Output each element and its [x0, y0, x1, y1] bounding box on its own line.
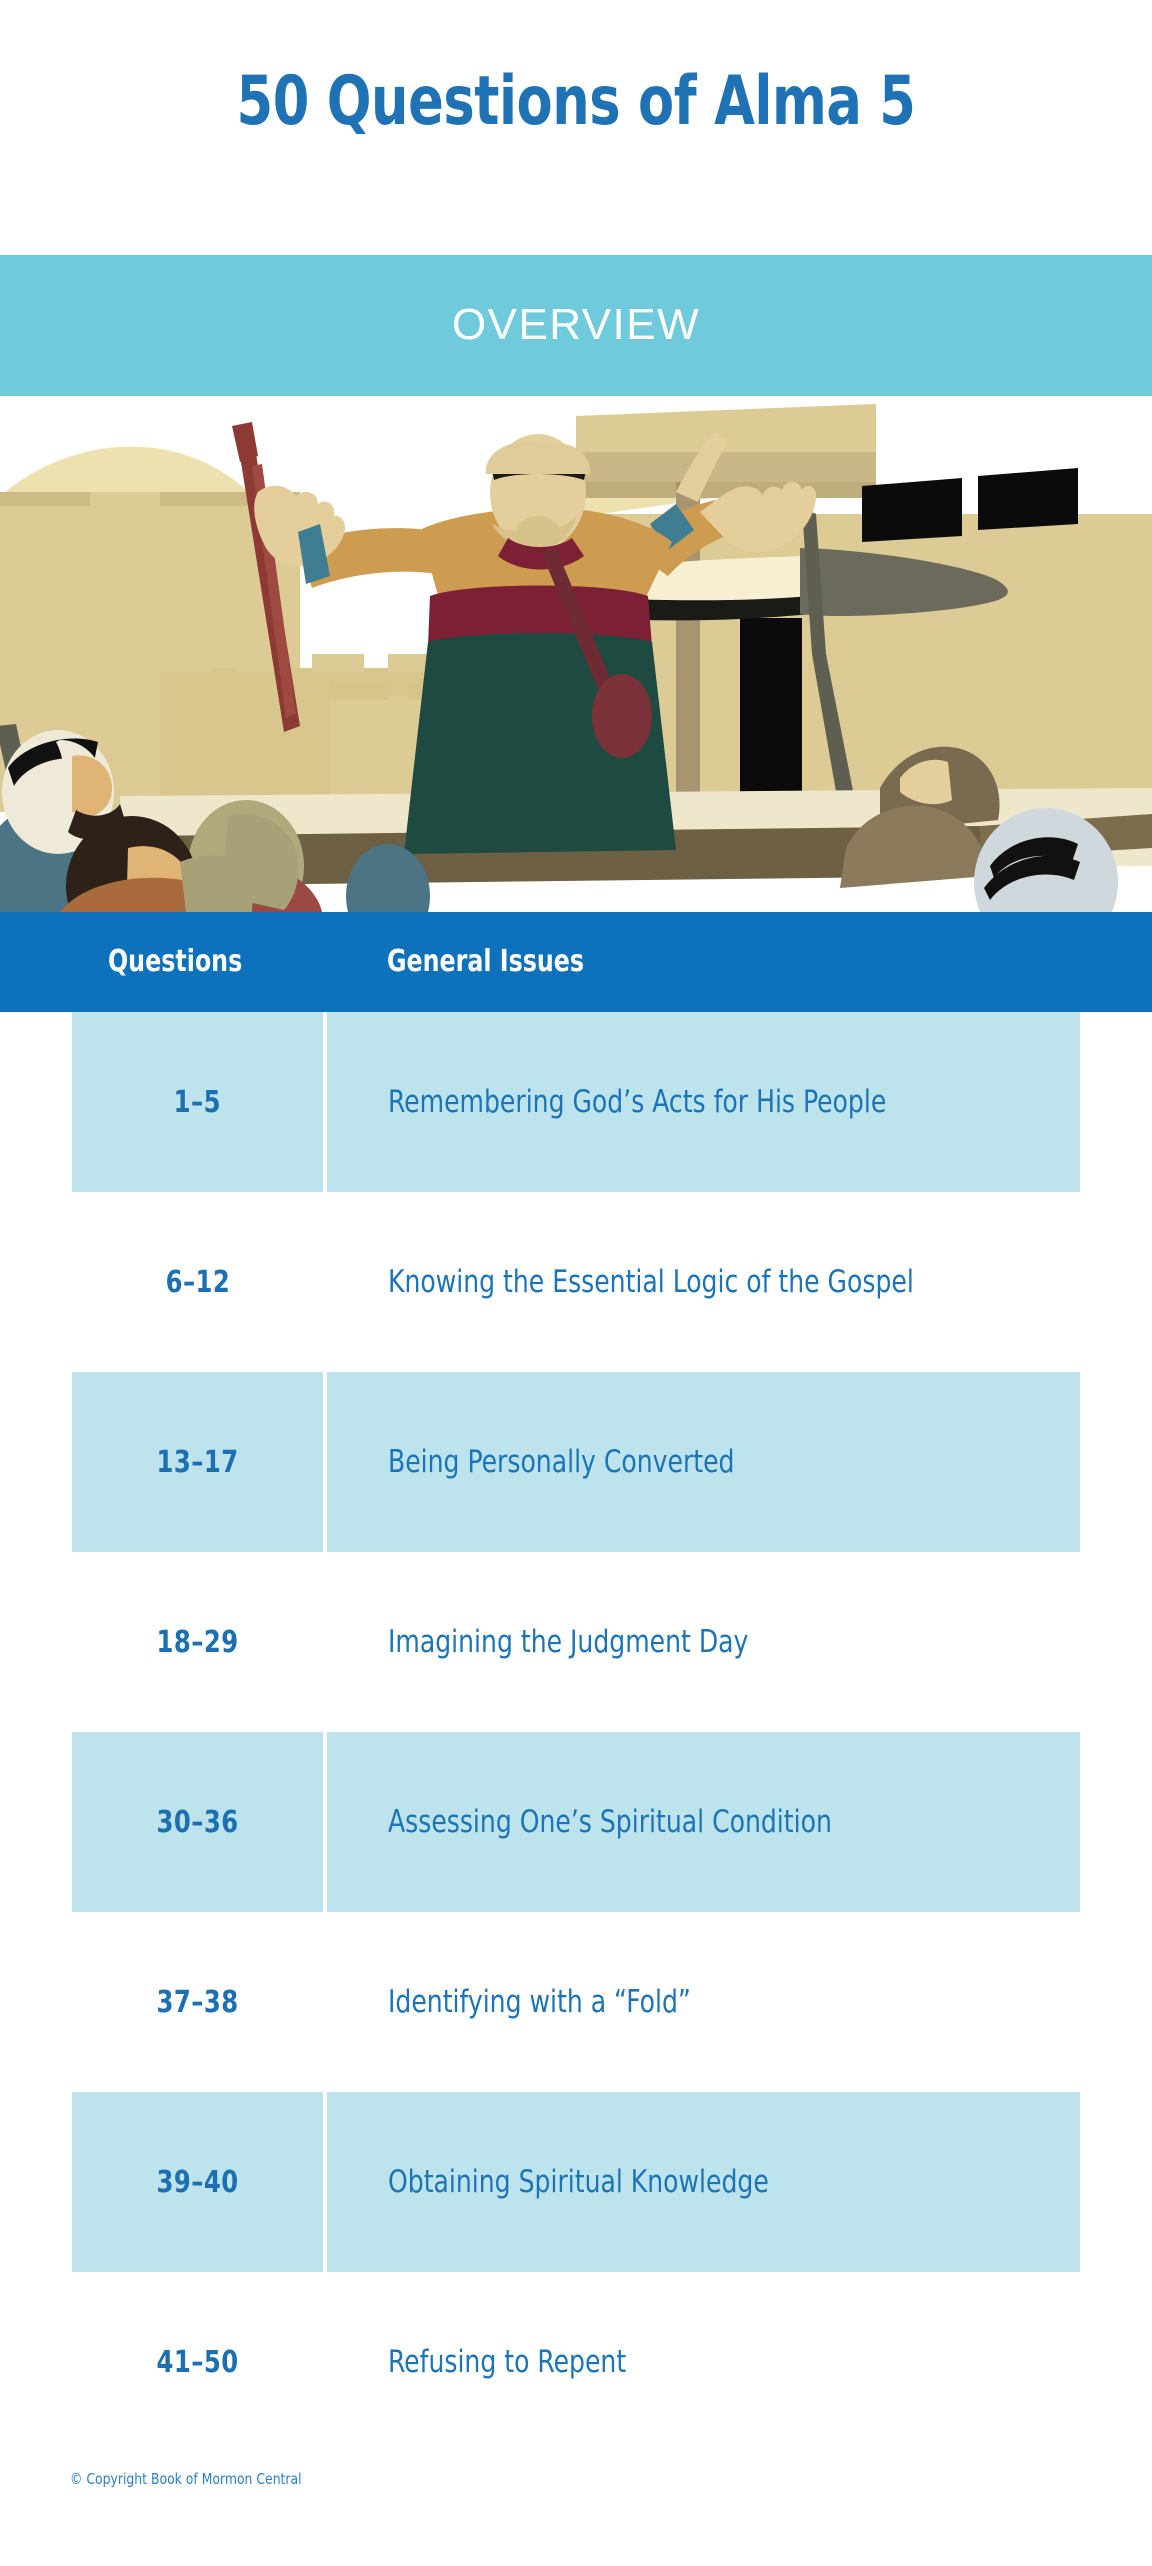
cell-general-issues: Imagining the Judgment Day: [327, 1552, 1080, 1732]
table-row: 41–50 Refusing to Repent: [0, 2272, 1152, 2452]
table-row: 18–29 Imagining the Judgment Day: [0, 1552, 1152, 1732]
cell-general-issues: Remembering God’s Acts for His People: [327, 1012, 1080, 1192]
cell-general-issues: Assessing One’s Spiritual Condition: [327, 1732, 1080, 1912]
satchel-bag: [592, 674, 652, 758]
cell-general-issues-text: Remembering God’s Acts for His People: [388, 1083, 886, 1122]
preacher-beard-lower: [516, 516, 560, 548]
cell-questions: 13–17: [72, 1372, 323, 1552]
cell-general-issues-text: Assessing One’s Spiritual Condition: [388, 1803, 832, 1842]
cell-questions: 30–36: [72, 1732, 323, 1912]
title-area: 50 Questions of Alma 5: [0, 0, 1152, 255]
table-row: 13–17 Being Personally Converted: [0, 1372, 1152, 1552]
cell-questions-text: 13–17: [156, 1445, 238, 1480]
cell-questions: 6–12: [72, 1192, 323, 1372]
cell-questions: 39–40: [72, 2092, 323, 2272]
overview-label: OVERVIEW: [0, 300, 1152, 350]
cell-general-issues-text: Knowing the Essential Logic of the Gospe…: [388, 1263, 914, 1302]
overview-band: OVERVIEW: [0, 255, 1152, 396]
cell-general-issues: Obtaining Spiritual Knowledge: [327, 2092, 1080, 2272]
cell-questions-text: 1–5: [174, 1085, 221, 1120]
column-header-general-issues: General Issues: [387, 944, 584, 979]
window-right: [978, 468, 1078, 530]
cell-general-issues-text: Being Personally Converted: [388, 1443, 735, 1482]
cell-questions-text: 41–50: [156, 2345, 238, 2380]
doorway: [740, 618, 802, 818]
cell-questions-text: 37–38: [156, 1985, 238, 2020]
table-row: 39–40 Obtaining Spiritual Knowledge: [0, 2092, 1152, 2272]
cell-questions: 37–38: [72, 1912, 323, 2092]
cell-general-issues: Refusing to Repent: [327, 2272, 1080, 2452]
cell-questions-text: 39–40: [156, 2165, 238, 2200]
cell-general-issues: Being Personally Converted: [327, 1372, 1080, 1552]
table-row: 1–5 Remembering God’s Acts for His Peopl…: [0, 1012, 1152, 1192]
cell-questions: 41–50: [72, 2272, 323, 2452]
cell-general-issues: Identifying with a “Fold”: [327, 1912, 1080, 2092]
window-left: [862, 478, 962, 542]
page-title: 50 Questions of Alma 5: [81, 62, 1072, 141]
copyright-notice: © Copyright Book of Mormon Central: [70, 2470, 302, 2488]
cell-questions-text: 6–12: [165, 1265, 230, 1300]
table-header-row: Questions General Issues: [0, 912, 1152, 1012]
illustration-svg: [0, 396, 1152, 912]
infographic-page: 50 Questions of Alma 5 OVERVIEW: [0, 0, 1152, 2566]
table-body: 1–5 Remembering God’s Acts for His Peopl…: [0, 1012, 1152, 2452]
table-row: 37–38 Identifying with a “Fold”: [0, 1912, 1152, 2092]
cell-questions-text: 18–29: [156, 1625, 238, 1660]
cell-general-issues: Knowing the Essential Logic of the Gospe…: [327, 1192, 1080, 1372]
cell-general-issues-text: Imagining the Judgment Day: [388, 1623, 748, 1662]
building-right-cornice: [576, 452, 876, 486]
table-row: 30–36 Assessing One’s Spiritual Conditio…: [0, 1732, 1152, 1912]
cell-general-issues-text: Refusing to Repent: [388, 2343, 626, 2382]
cell-general-issues-text: Identifying with a “Fold”: [388, 1983, 691, 2022]
column-header-questions: Questions: [108, 944, 242, 979]
cell-questions-text: 30–36: [156, 1805, 238, 1840]
cell-general-issues-text: Obtaining Spiritual Knowledge: [388, 2163, 769, 2202]
cell-questions: 18–29: [72, 1552, 323, 1732]
cell-questions: 1–5: [72, 1012, 323, 1192]
table-row: 6–12 Knowing the Essential Logic of the …: [0, 1192, 1152, 1372]
alma-preaching-illustration: [0, 396, 1152, 912]
wall-left-merlon-a: [90, 492, 160, 518]
